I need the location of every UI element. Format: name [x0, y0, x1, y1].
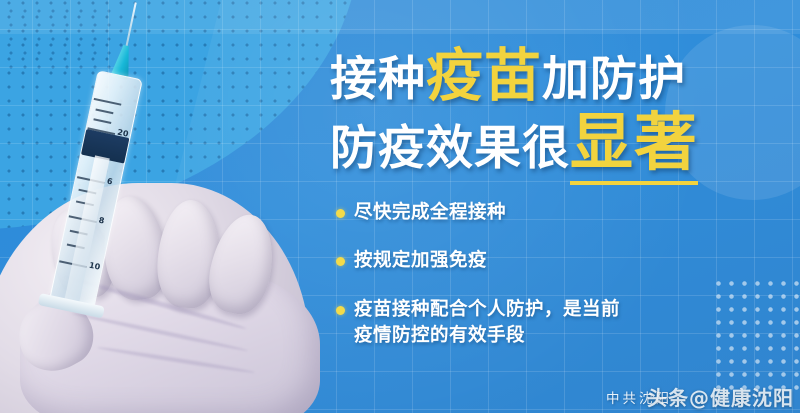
headline-line-2: 防疫效果很显著	[330, 111, 780, 174]
headline-line1-part2: 加防护	[542, 52, 686, 107]
list-item: 疫苗接种配合个人防护，是当前 疫情防控的有效手段	[336, 297, 756, 350]
headline-line1-accent: 疫苗	[426, 43, 542, 109]
gloved-hand-syringe-photo: 20 6 8 10	[0, 0, 330, 413]
bullet-dot-icon	[336, 306, 345, 315]
headline-block: 接种疫苗加防护 防疫效果很显著	[330, 48, 780, 174]
list-item: 尽快完成全程接种	[336, 200, 756, 226]
list-item: 按规定加强免疫	[336, 248, 756, 274]
bullet-dot-icon	[336, 209, 345, 218]
bullet-text: 按规定加强免疫	[354, 248, 487, 274]
watermark-label: 头条@健康沈阳	[647, 382, 794, 411]
syringe-needle	[125, 2, 137, 47]
headline-line-1: 接种疫苗加防护	[330, 48, 780, 105]
headline-line1-part1: 接种	[330, 52, 426, 107]
bullet-dot-icon	[336, 257, 345, 266]
bullet-text: 疫苗接种配合个人防护，是当前 疫情防控的有效手段	[354, 297, 620, 350]
bullet-text: 尽快完成全程接种	[354, 200, 506, 226]
bullet-list: 尽快完成全程接种 按规定加强免疫 疫苗接种配合个人防护，是当前 疫情防控的有效手…	[336, 200, 756, 371]
vaccination-poster: 20 6 8 10 接种疫苗加防护 防疫效果很显著 尽快完成全程接种 按规定	[0, 0, 800, 413]
headline-line2-accent: 显著	[570, 106, 698, 185]
headline-line2-part1: 防疫效果很	[330, 121, 570, 176]
